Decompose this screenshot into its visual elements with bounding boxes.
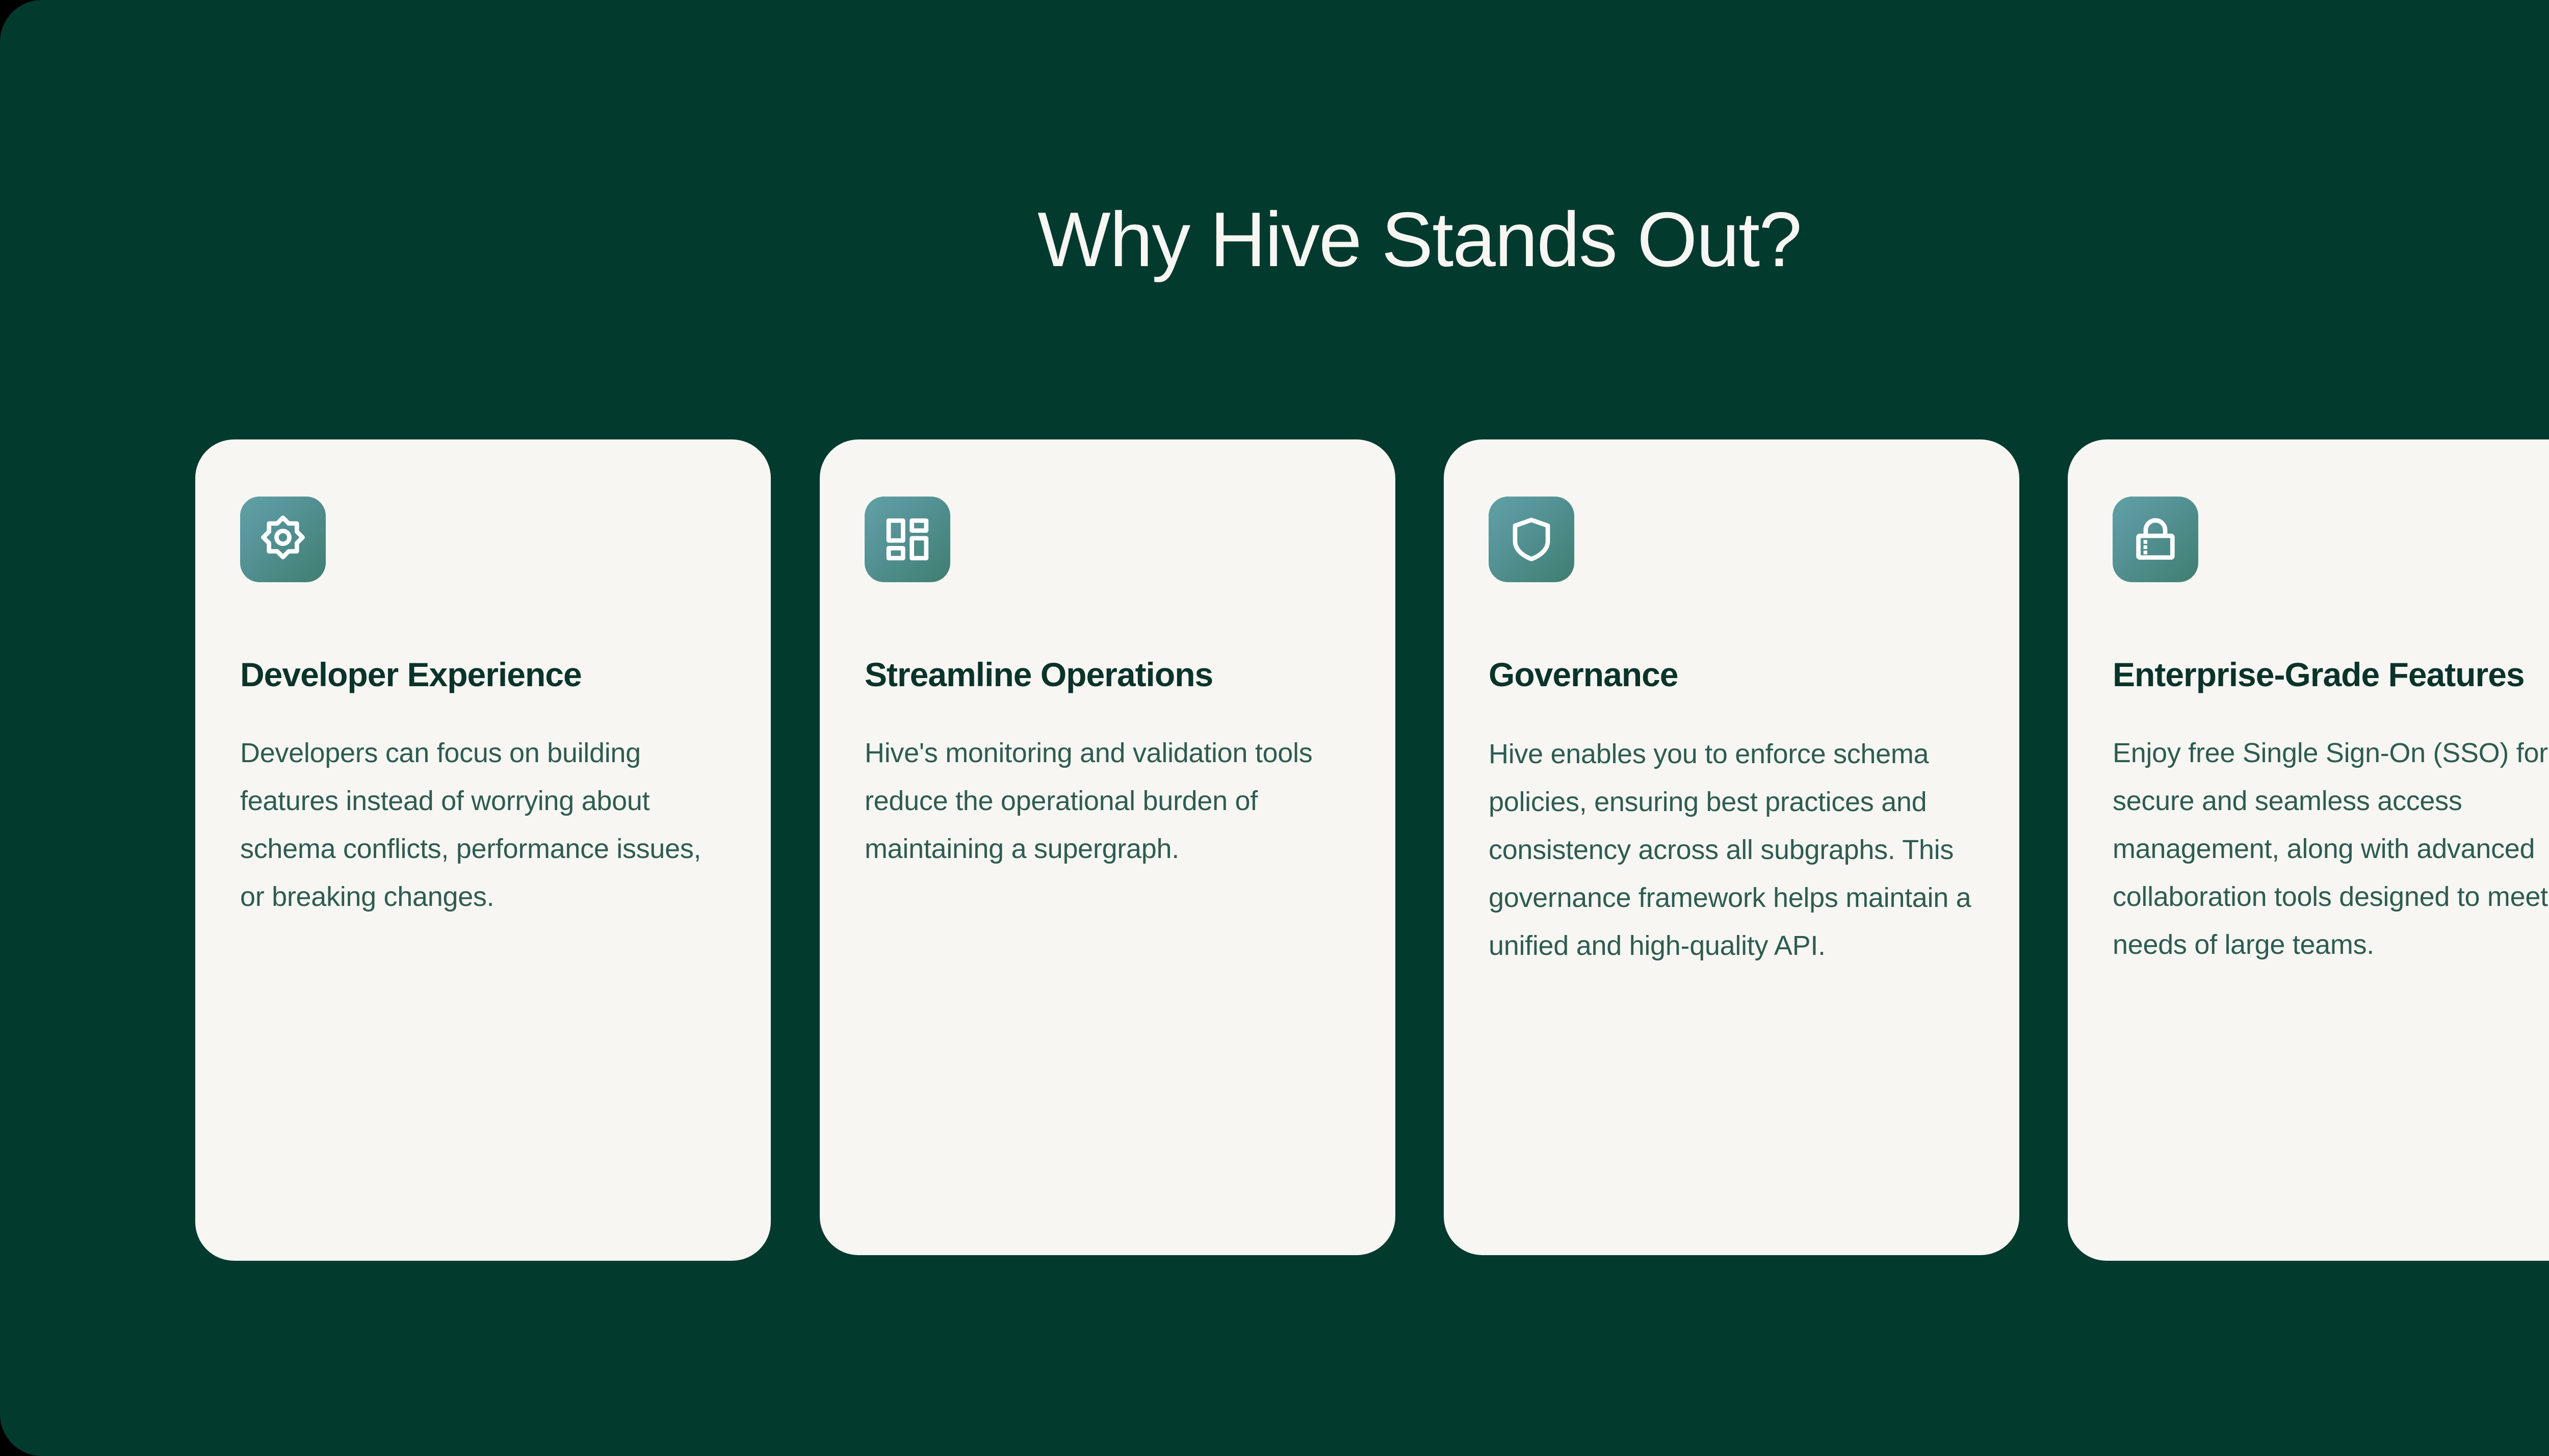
card-title: Governance: [1489, 646, 1974, 703]
card-title: Enterprise-Grade Features: [2113, 646, 2549, 703]
card-body: Developers can focus on building feature…: [240, 729, 726, 921]
dashboard-grid-icon: [865, 497, 950, 582]
feature-card-streamline-operations[interactable]: Streamline Operations Hive's monitoring …: [820, 439, 1395, 1255]
card-body: Enjoy free Single Sign-On (SSO) for secu…: [2113, 729, 2549, 969]
feature-card-governance[interactable]: Governance Hive enables you to enforce s…: [1444, 439, 2019, 1255]
card-body: Hive's monitoring and validation tools r…: [865, 729, 1350, 873]
feature-card-grid: Developer Experience Developers can focu…: [195, 439, 2549, 1265]
lock-icon: [2113, 497, 2198, 582]
screenshot-stage: Why Hive Stands Out? Developer Experienc…: [0, 0, 2549, 1456]
card-body: Hive enables you to enforce schema polic…: [1489, 730, 1974, 970]
feature-card-developer-experience[interactable]: Developer Experience Developers can focu…: [195, 439, 771, 1261]
settings-gear-icon: [240, 497, 326, 582]
feature-card-enterprise-grade-features[interactable]: Enterprise-Grade Features Enjoy free Sin…: [2068, 439, 2549, 1261]
card-title: Developer Experience: [240, 646, 726, 703]
feature-section-panel: Why Hive Stands Out? Developer Experienc…: [0, 0, 2549, 1456]
page-title: Why Hive Stands Out?: [0, 194, 2549, 285]
card-title: Streamline Operations: [865, 646, 1350, 703]
shield-icon: [1489, 497, 1574, 582]
